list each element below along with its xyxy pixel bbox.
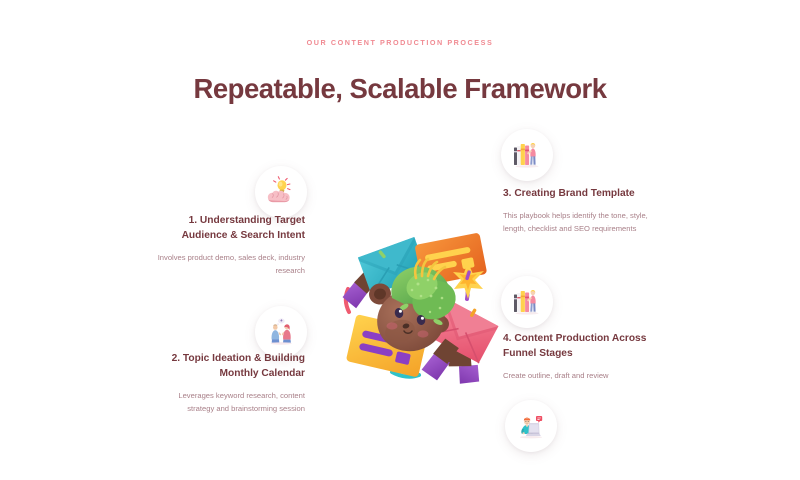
step-1-description: Involves product demo, sales deck, indus… <box>155 251 305 278</box>
person-with-books-icon-2 <box>501 276 553 328</box>
step-4-description: Create outline, draft and review <box>503 369 653 383</box>
step-3-title: 3. Creating Brand Template <box>503 187 653 202</box>
section-eyebrow: OUR CONTENT PRODUCTION PROCESS <box>0 38 800 47</box>
step-1-block: 1. Understanding Target Audience & Searc… <box>155 214 305 278</box>
step-4-title: 4. Content Production Across Funnel Stag… <box>503 332 653 362</box>
person-at-laptop-icon <box>505 400 557 452</box>
step-1-title: 1. Understanding Target Audience & Searc… <box>155 214 305 244</box>
brainstorming-people-icon <box>255 306 307 358</box>
bear-with-envelopes-illustration <box>318 212 504 398</box>
step-2-description: Leverages keyword research, content stra… <box>155 389 305 416</box>
page-title: Repeatable, Scalable Framework <box>0 72 800 106</box>
process-section: OUR CONTENT PRODUCTION PROCESS Repeatabl… <box>0 0 800 480</box>
step-2-title: 2. Topic Ideation & Building Monthly Cal… <box>155 352 305 382</box>
step-3-description: This playbook helps identify the tone, s… <box>503 209 653 236</box>
step-4-block: 4. Content Production Across Funnel Stag… <box>503 332 653 382</box>
person-with-books-icon <box>501 129 553 181</box>
brain-lightbulb-icon <box>255 166 307 218</box>
step-2-block: 2. Topic Ideation & Building Monthly Cal… <box>155 352 305 416</box>
step-3-block: 3. Creating Brand Template This playbook… <box>503 187 653 236</box>
